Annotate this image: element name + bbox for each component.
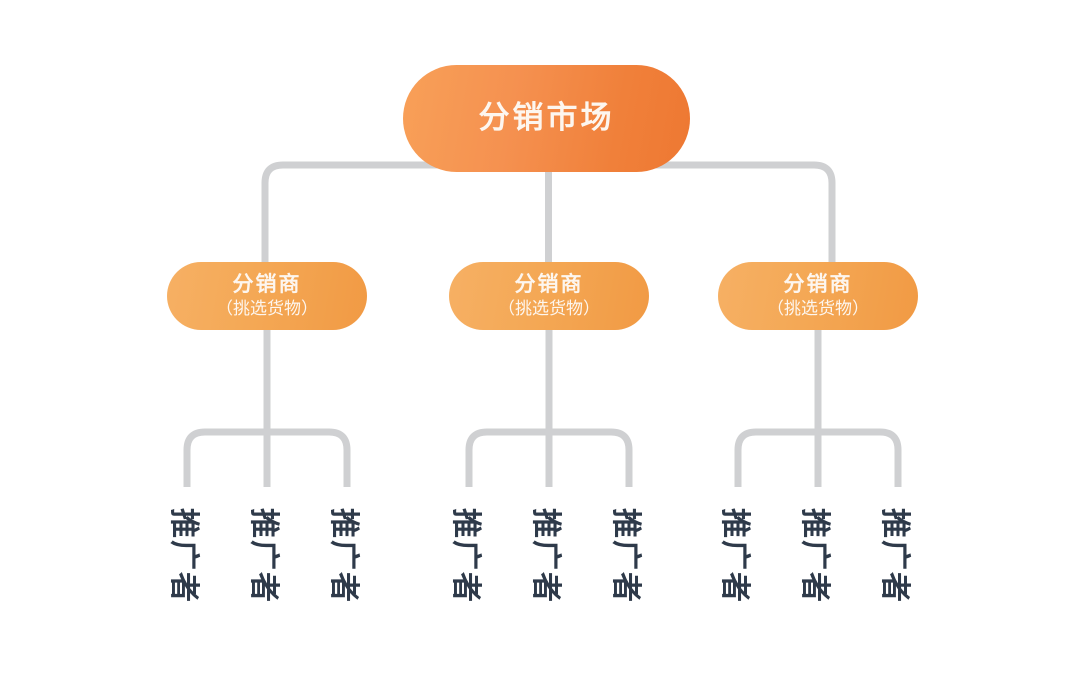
connector-mid-b-bar — [469, 432, 629, 487]
node-promoter-9[interactable]: 推广者 — [878, 494, 918, 614]
node-promoter-4[interactable]: 推广者 — [449, 494, 489, 614]
node-promoter-1[interactable]: 推广者 — [167, 494, 207, 614]
node-distributor-1-sublabel: （挑选货物） — [216, 299, 318, 319]
node-promoter-8-label: 推广者 — [796, 508, 840, 604]
diagram-canvas: 分销市场 分销商 （挑选货物） 分销商 （挑选货物） 分销商 （挑选货物） 推广… — [0, 0, 1080, 675]
node-distributor-1[interactable]: 分销商 （挑选货物） — [167, 262, 367, 330]
node-root-distribution-market[interactable]: 分销市场 — [403, 65, 690, 172]
connector-mid-c-bar — [738, 432, 898, 487]
node-distributor-3-label: 分销商 — [784, 273, 853, 298]
connector-mid-a-bar — [187, 432, 347, 487]
node-promoter-3[interactable]: 推广者 — [327, 494, 367, 614]
connector-root-bar — [265, 165, 832, 262]
node-distributor-1-label: 分销商 — [233, 273, 302, 298]
node-distributor-2-label: 分销商 — [515, 273, 584, 298]
node-promoter-3-label: 推广者 — [325, 508, 369, 604]
node-distributor-3-sublabel: （挑选货物） — [767, 299, 869, 319]
node-promoter-2[interactable]: 推广者 — [247, 494, 287, 614]
node-promoter-4-label: 推广者 — [447, 508, 491, 604]
node-promoter-5-label: 推广者 — [527, 508, 571, 604]
node-promoter-7[interactable]: 推广者 — [718, 494, 758, 614]
node-distributor-3[interactable]: 分销商 （挑选货物） — [718, 262, 918, 330]
node-root-label: 分销市场 — [479, 100, 615, 137]
node-promoter-1-label: 推广者 — [165, 508, 209, 604]
node-promoter-6-label: 推广者 — [607, 508, 651, 604]
node-promoter-2-label: 推广者 — [245, 508, 289, 604]
node-promoter-9-label: 推广者 — [876, 508, 920, 604]
node-promoter-8[interactable]: 推广者 — [798, 494, 838, 614]
node-distributor-2[interactable]: 分销商 （挑选货物） — [449, 262, 649, 330]
node-promoter-7-label: 推广者 — [716, 508, 760, 604]
node-distributor-2-sublabel: （挑选货物） — [498, 299, 600, 319]
node-promoter-5[interactable]: 推广者 — [529, 494, 569, 614]
node-promoter-6[interactable]: 推广者 — [609, 494, 649, 614]
